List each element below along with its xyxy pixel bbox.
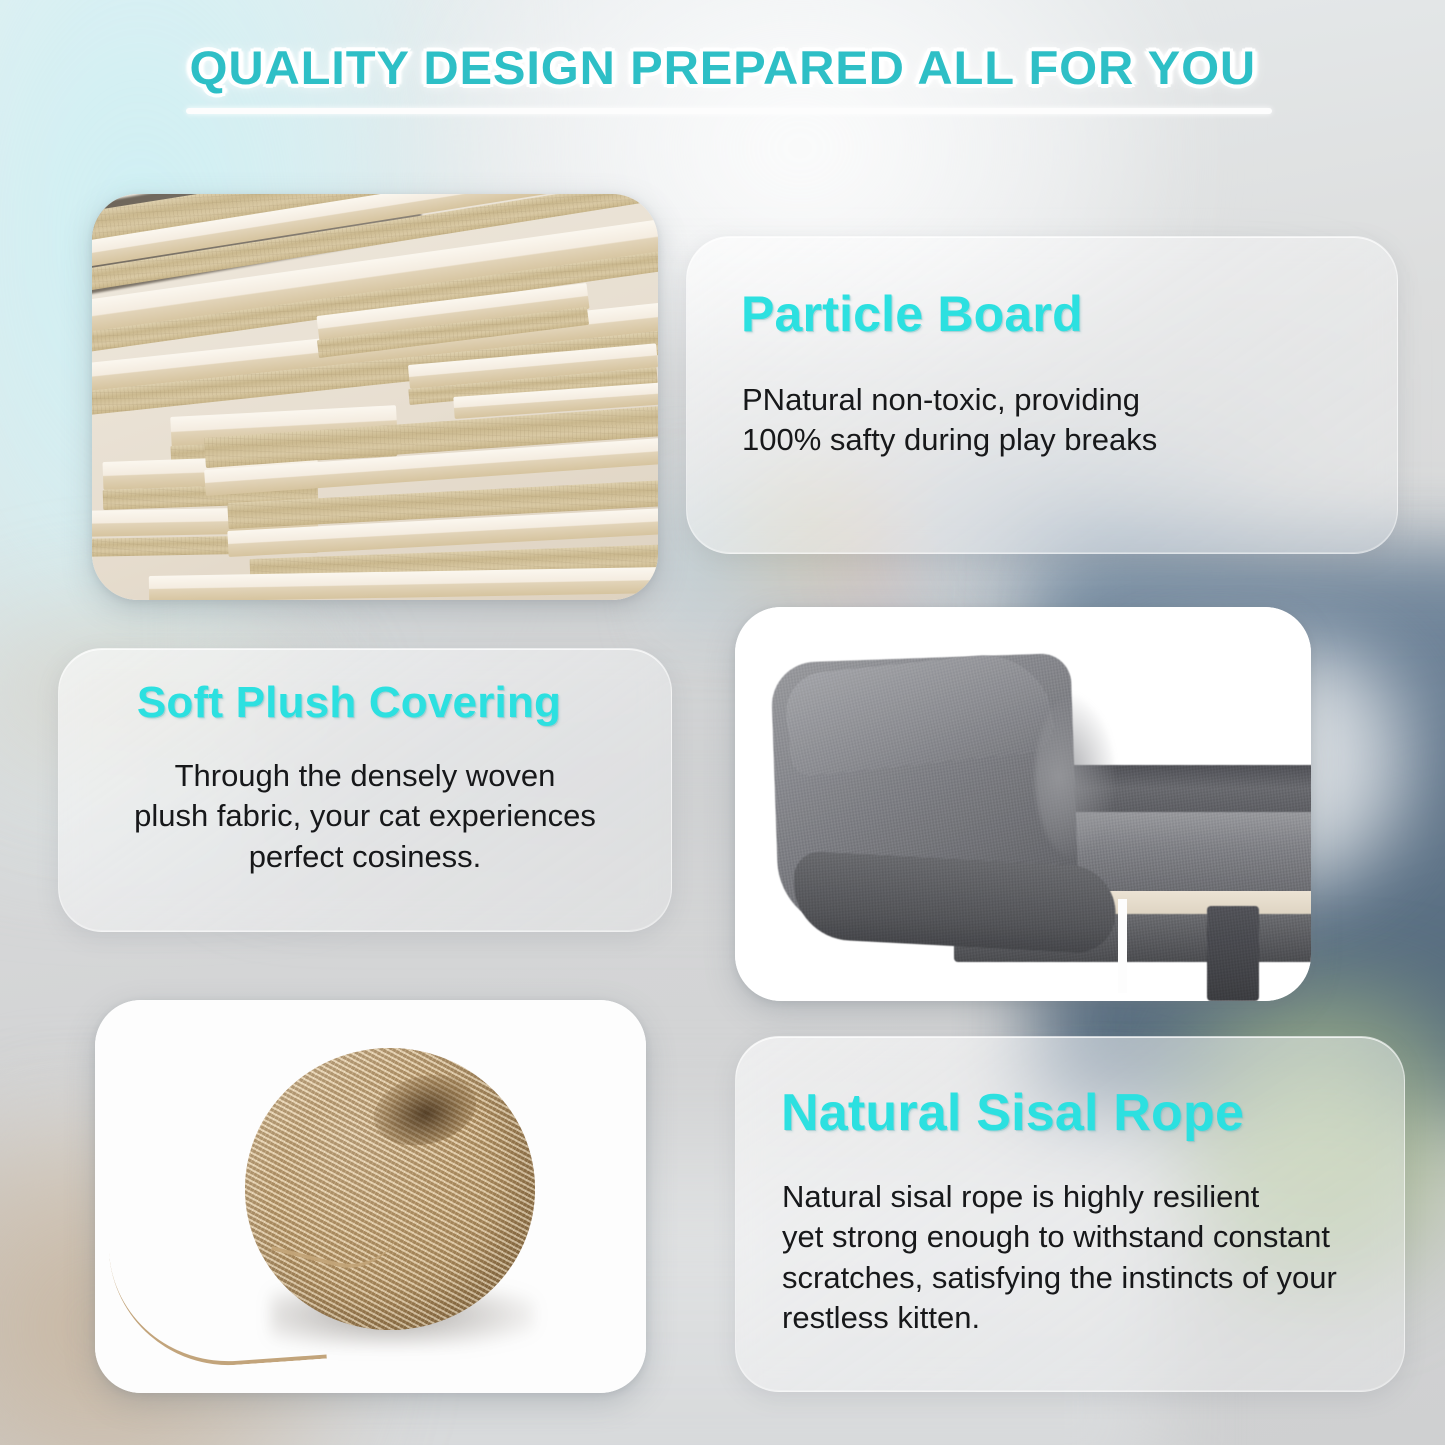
title-underline-rule xyxy=(186,108,1272,114)
soft-plush-image-card xyxy=(735,607,1311,1001)
particle-board-heading: Particle Board xyxy=(741,289,1083,340)
particle-board-text-card: Particle Board PNatural non-toxic, provi… xyxy=(686,236,1398,554)
sisal-rope-image-card xyxy=(95,1000,646,1393)
sisal-rope-body-line-1: Natural sisal rope is highly resilient xyxy=(782,1177,1386,1217)
soft-plush-body-line-2: plush fabric, your cat experiences xyxy=(87,796,643,836)
sisal-rope-heading: Natural Sisal Rope xyxy=(781,1087,1244,1140)
soft-plush-body-line-1: Through the densely woven xyxy=(87,756,643,796)
sisal-rope-photo xyxy=(95,1000,646,1393)
sisal-rope-text-card: Natural Sisal Rope Natural sisal rope is… xyxy=(735,1036,1405,1392)
particle-board-image-card xyxy=(92,194,658,600)
particle-board-body-line-2: 100% safty during play breaks xyxy=(742,420,1362,460)
banner-title-wrap: QUALITY DESIGN PREPARED ALL FOR YOU xyxy=(0,40,1445,95)
particle-board-photo xyxy=(92,194,658,600)
soft-plush-body-line-3: perfect cosiness. xyxy=(87,837,643,877)
particle-board-body-line-1: PNatural non-toxic, providing xyxy=(742,380,1362,420)
soft-plush-text-card: Soft Plush Covering Through the densely … xyxy=(58,648,672,932)
sisal-rope-body: Natural sisal rope is highly resilient y… xyxy=(782,1177,1386,1338)
soft-plush-photo xyxy=(735,607,1311,1001)
sisal-rope-body-line-2: yet strong enough to withstand constant xyxy=(782,1217,1386,1257)
particle-board-body: PNatural non-toxic, providing 100% safty… xyxy=(742,380,1362,461)
page-title: QUALITY DESIGN PREPARED ALL FOR YOU xyxy=(189,40,1256,95)
soft-plush-body: Through the densely woven plush fabric, … xyxy=(87,756,643,877)
soft-plush-heading: Soft Plush Covering xyxy=(59,681,639,726)
sisal-rope-body-line-3: scratches, satisfying the instincts of y… xyxy=(782,1258,1386,1298)
sisal-rope-body-line-4: restless kitten. xyxy=(782,1298,1386,1338)
